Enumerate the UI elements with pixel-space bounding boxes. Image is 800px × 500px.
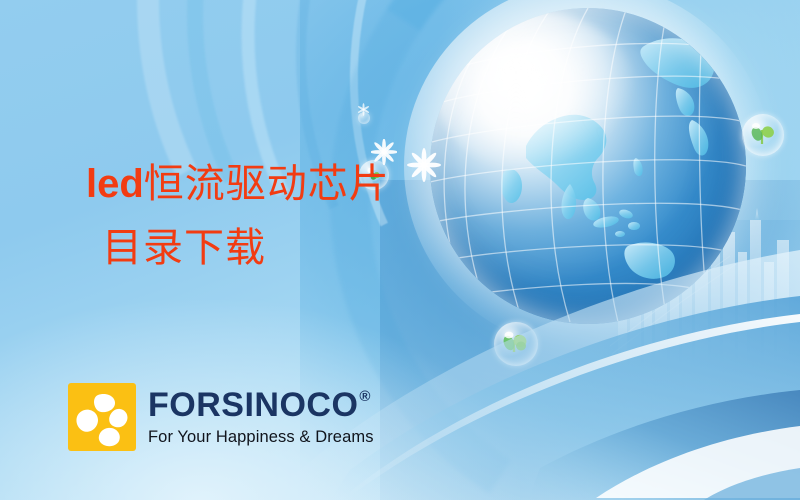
bottom-diagonal-swooshes [0,240,800,500]
logo-wordmark-text: FORSINOCO [148,388,358,422]
company-logo: FORSINOCO® For Your Happiness & Dreams [68,383,374,451]
title-cjk-text: 恒流驱动芯片 [144,161,390,206]
presentation-slide: led恒流驱动芯片 目录下载 FORSINOCO® For Your Happi… [0,0,800,500]
registered-trademark-icon: ® [359,389,371,404]
title-latin-text: led [86,162,144,206]
four-petal-clover-icon [68,383,136,451]
slide-title: led恒流驱动芯片 目录下载 [86,160,506,271]
title-line-1: led恒流驱动芯片 [86,160,506,208]
title-line-2: 目录下载 [102,224,506,271]
bubble-edge-right [742,114,784,156]
logo-tagline: For Your Happiness & Dreams [148,429,374,446]
logo-wordmark: FORSINOCO® [148,388,374,422]
logo-text-block: FORSINOCO® For Your Happiness & Dreams [148,388,374,446]
bubble-tiny [358,112,370,124]
